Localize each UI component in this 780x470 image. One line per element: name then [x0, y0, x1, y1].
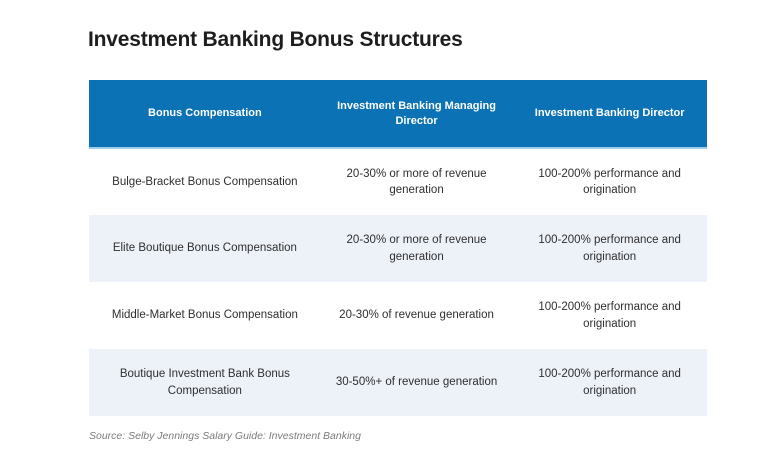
table-header: Bonus Compensation Investment Banking Ma…: [89, 80, 707, 148]
cell-managing-director: 20-30% or more of revenue generation: [321, 148, 513, 215]
cell-category: Bulge-Bracket Bonus Compensation: [89, 148, 321, 215]
bonus-structures-table: Bonus Compensation Investment Banking Ma…: [89, 80, 707, 416]
cell-director: 100-200% performance and origination: [512, 349, 707, 416]
column-header-bonus-compensation: Bonus Compensation: [89, 80, 321, 148]
source-note: Source: Selby Jennings Salary Guide: Inv…: [89, 430, 361, 442]
page-title: Investment Banking Bonus Structures: [88, 28, 463, 52]
column-header-managing-director: Investment Banking Managing Director: [321, 80, 513, 148]
cell-managing-director: 20-30% of revenue generation: [321, 282, 513, 349]
table-row: Elite Boutique Bonus Compensation 20-30%…: [89, 215, 707, 282]
cell-category: Middle-Market Bonus Compensation: [89, 282, 321, 349]
table-row: Middle-Market Bonus Compensation 20-30% …: [89, 282, 707, 349]
cell-managing-director: 20-30% or more of revenue generation: [321, 215, 513, 282]
table-row: Bulge-Bracket Bonus Compensation 20-30% …: [89, 148, 707, 215]
cell-category: Elite Boutique Bonus Compensation: [89, 215, 321, 282]
cell-director: 100-200% performance and origination: [512, 148, 707, 215]
cell-director: 100-200% performance and origination: [512, 282, 707, 349]
table-body: Bulge-Bracket Bonus Compensation 20-30% …: [89, 148, 707, 416]
cell-category: Boutique Investment Bank Bonus Compensat…: [89, 349, 321, 416]
table-row: Boutique Investment Bank Bonus Compensat…: [89, 349, 707, 416]
cell-director: 100-200% performance and origination: [512, 215, 707, 282]
cell-managing-director: 30-50%+ of revenue generation: [321, 349, 513, 416]
bonus-structures-table-container: Bonus Compensation Investment Banking Ma…: [89, 80, 707, 416]
slide-canvas: Investment Banking Bonus Structures Bonu…: [0, 0, 780, 470]
table-header-row: Bonus Compensation Investment Banking Ma…: [89, 80, 707, 148]
column-header-director: Investment Banking Director: [512, 80, 707, 148]
